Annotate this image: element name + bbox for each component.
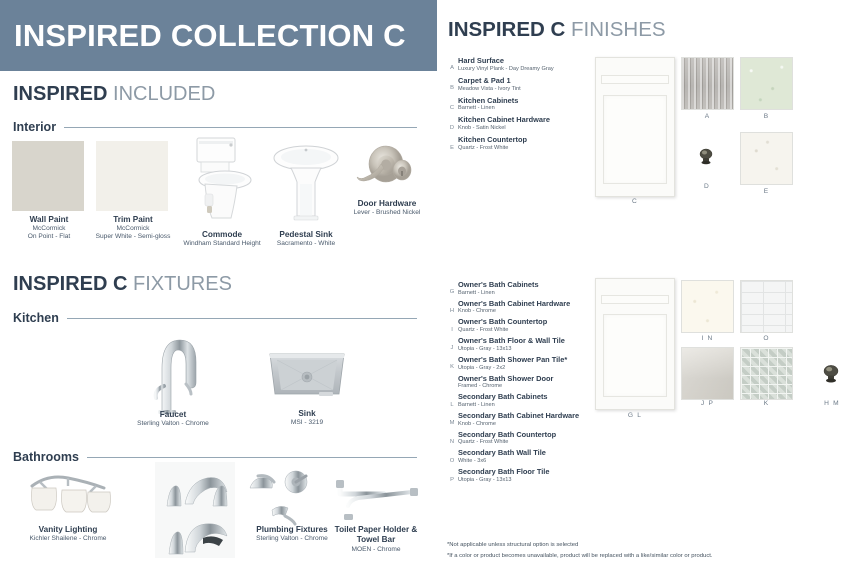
cabinet-door-sample-bath bbox=[595, 278, 675, 410]
bathrooms-divider bbox=[87, 457, 417, 458]
swatch-wall-paint bbox=[12, 141, 84, 211]
swatch-e-countertop bbox=[740, 132, 793, 185]
toilet-icon bbox=[185, 136, 257, 222]
swatch-label-hm: H M bbox=[807, 400, 853, 407]
spec-sheet-page: INSPIRED COLLECTION C INSPIRED INCLUDED … bbox=[0, 0, 853, 569]
caption-wall-paint: Wall Paint McCormick On Point - Flat bbox=[8, 215, 90, 242]
caption-trim-paint: Trim Paint McCormick Super White - Semi-… bbox=[86, 215, 180, 242]
kitchen-label: Kitchen bbox=[13, 311, 59, 325]
swatch-label-e: E bbox=[740, 188, 793, 195]
cabinet-knob-chrome-icon bbox=[820, 363, 842, 383]
finishes-heading-bold: INSPIRED C bbox=[448, 18, 565, 41]
collection-banner: INSPIRED COLLECTION C bbox=[0, 0, 437, 71]
included-heading: INSPIRED INCLUDED bbox=[13, 83, 215, 106]
kitchen-divider bbox=[67, 318, 417, 319]
footnote-2: *If a color or product becomes unavailab… bbox=[447, 553, 713, 559]
swatch-k-shower-pan-tile bbox=[740, 347, 793, 400]
caption-vanity-lighting: Vanity Lighting Kichler Shailene - Chrom… bbox=[6, 525, 130, 543]
left-column: INSPIRED COLLECTION C INSPIRED INCLUDED … bbox=[0, 0, 437, 569]
swatch-in-bath-countertop bbox=[681, 280, 734, 333]
finishes-heading: INSPIRED C FINISHES bbox=[448, 18, 666, 42]
kitchen-faucet-icon bbox=[140, 328, 206, 416]
bathrooms-label: Bathrooms bbox=[13, 450, 79, 464]
cabinet-knob-satin-nickel-icon bbox=[696, 147, 716, 165]
kitchen-sink-icon bbox=[267, 346, 347, 404]
fixtures-heading-bold: INSPIRED C bbox=[13, 273, 127, 295]
footnote-1: *Not applicable unless structural option… bbox=[447, 542, 578, 548]
finish-row: O Secondary Bath Wall Tile White - 3x6 bbox=[446, 449, 621, 464]
swatch-label-c: C bbox=[595, 198, 675, 205]
page-title: INSPIRED COLLECTION C bbox=[0, 18, 406, 54]
pedestal-sink-icon bbox=[270, 140, 342, 226]
caption-pedestal-sink: Pedestal Sink Sacramento - White bbox=[252, 230, 360, 248]
swatch-b-carpet bbox=[740, 57, 793, 110]
bath-faucet-icon bbox=[155, 462, 235, 558]
vanity-light-icon bbox=[18, 470, 118, 524]
swatch-o-wall-tile bbox=[740, 280, 793, 333]
shower-trim-icon bbox=[244, 468, 320, 526]
interior-label: Interior bbox=[13, 120, 56, 134]
swatch-label-gl: G L bbox=[595, 412, 675, 419]
swatch-label-b: B bbox=[740, 113, 793, 120]
swatch-label-a: A bbox=[681, 113, 734, 120]
door-lever-icon bbox=[350, 140, 418, 202]
towel-bar-icon bbox=[326, 476, 422, 524]
caption-sink: Sink MSI - 3219 bbox=[267, 409, 347, 427]
included-heading-light: INCLUDED bbox=[113, 83, 215, 105]
finishes-heading-light: FINISHES bbox=[571, 18, 666, 41]
swatch-a-hard-surface bbox=[681, 57, 734, 110]
caption-faucet: Faucet Sterling Valton - Chrome bbox=[122, 410, 224, 428]
swatch-trim-paint bbox=[96, 141, 168, 211]
swatch-label-in: I N bbox=[681, 335, 734, 342]
swatch-jp-floor-tile bbox=[681, 347, 734, 400]
interior-divider bbox=[64, 127, 417, 128]
caption-door-hardware: Door Hardware Lever - Brushed Nickel bbox=[336, 199, 438, 217]
swatch-label-k: K bbox=[740, 400, 793, 407]
swatch-label-jp: J P bbox=[681, 400, 734, 407]
interior-subheading: Interior bbox=[13, 120, 417, 134]
kitchen-subheading: Kitchen bbox=[13, 311, 417, 325]
fixtures-heading: INSPIRED C FIXTURES bbox=[13, 273, 232, 296]
fixtures-heading-light: FIXTURES bbox=[133, 273, 232, 295]
finish-row: P Secondary Bath Floor Tile Utopia - Gra… bbox=[446, 468, 621, 483]
right-column: INSPIRED C FINISHES A Hard Surface Luxur… bbox=[437, 0, 853, 569]
finish-row: N Secondary Bath Countertop Quartz - Fro… bbox=[446, 431, 621, 446]
caption-towel-bar: Toilet Paper Holder & Towel Bar MOEN - C… bbox=[320, 525, 432, 554]
included-heading-bold: INSPIRED bbox=[13, 83, 107, 105]
swatch-label-d: D bbox=[682, 183, 732, 190]
swatch-label-o: O bbox=[740, 335, 793, 342]
cabinet-door-sample-kitchen bbox=[595, 57, 675, 197]
